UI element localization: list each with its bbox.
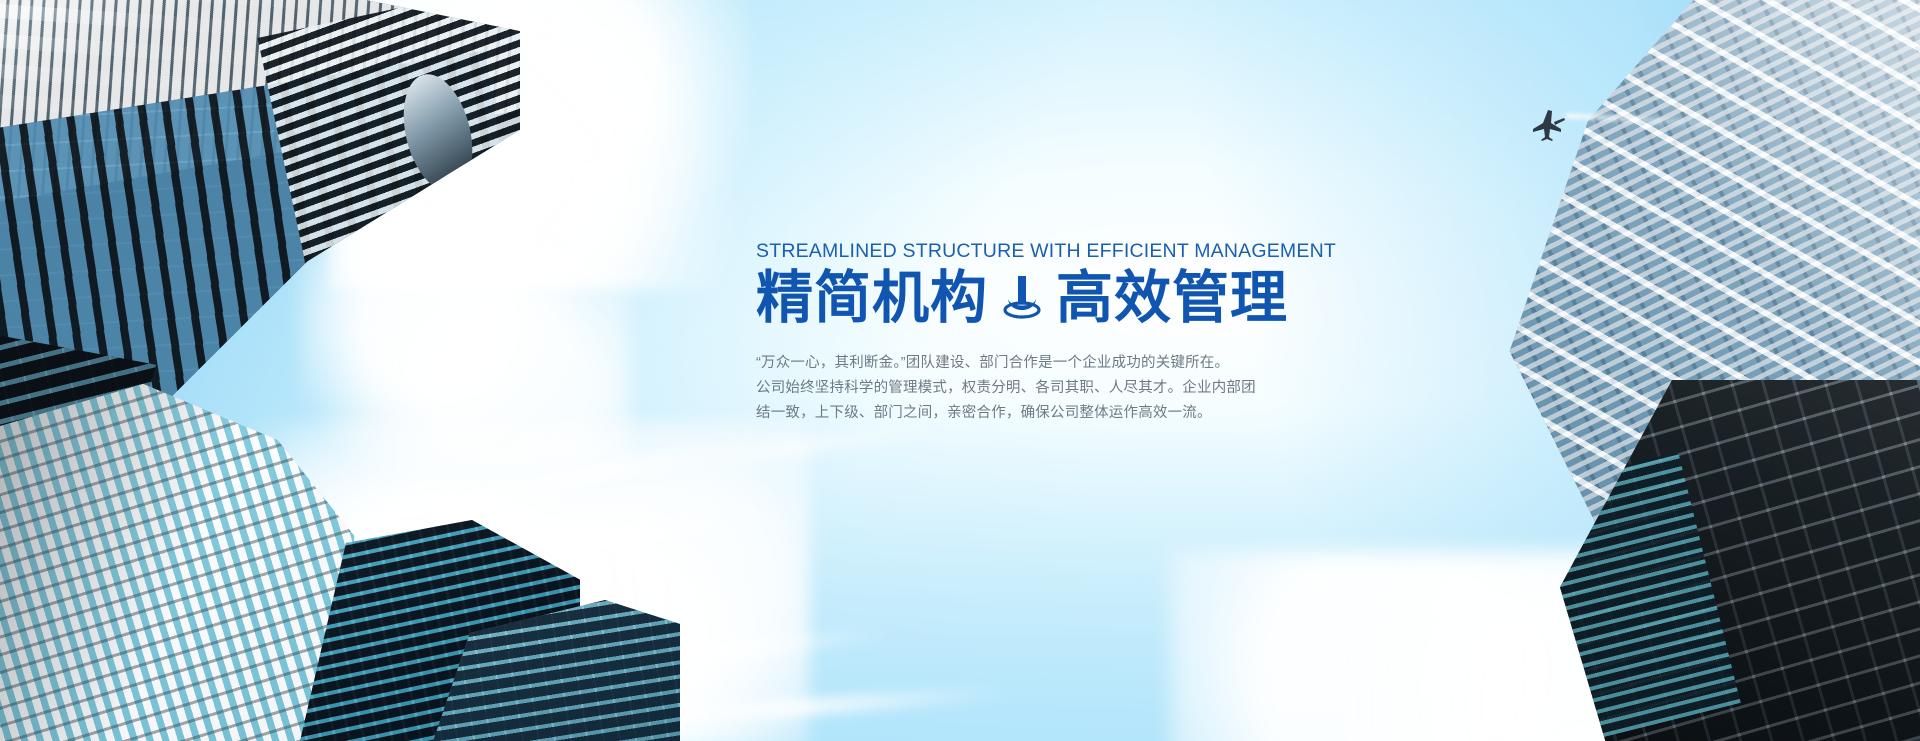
hero-body-line-2: 公司始终坚持科学的管理模式，权责分明、各司其职、人尽其才。企业内部团 bbox=[756, 376, 1316, 401]
corporate-hero-banner: STREAMLINED STRUCTURE WITH EFFICIENT MAN… bbox=[0, 0, 1920, 741]
hero-body-line-1: “万众一心，其利断金。”团队建设、部门合作是一个企业成功的关键所在。 bbox=[756, 351, 1316, 376]
hero-headline-left: 精简机构 bbox=[756, 265, 988, 332]
hero-headline: 精简机构 高效管理 bbox=[756, 265, 1316, 332]
hero-copy-block: STREAMLINED STRUCTURE WITH EFFICIENT MAN… bbox=[756, 240, 1316, 425]
hero-eyebrow-english: STREAMLINED STRUCTURE WITH EFFICIENT MAN… bbox=[756, 240, 1316, 263]
hero-headline-right: 高效管理 bbox=[1056, 265, 1288, 332]
hero-body-line-3: 结一致，上下级、部门之间，亲密合作，确保公司整体运作高效一流。 bbox=[756, 401, 1316, 426]
down-arrow-swoosh-icon bbox=[1002, 274, 1042, 324]
airplane-icon bbox=[1528, 108, 1572, 142]
hero-body-text: “万众一心，其利断金。”团队建设、部门合作是一个企业成功的关键所在。 公司始终坚… bbox=[756, 351, 1316, 426]
